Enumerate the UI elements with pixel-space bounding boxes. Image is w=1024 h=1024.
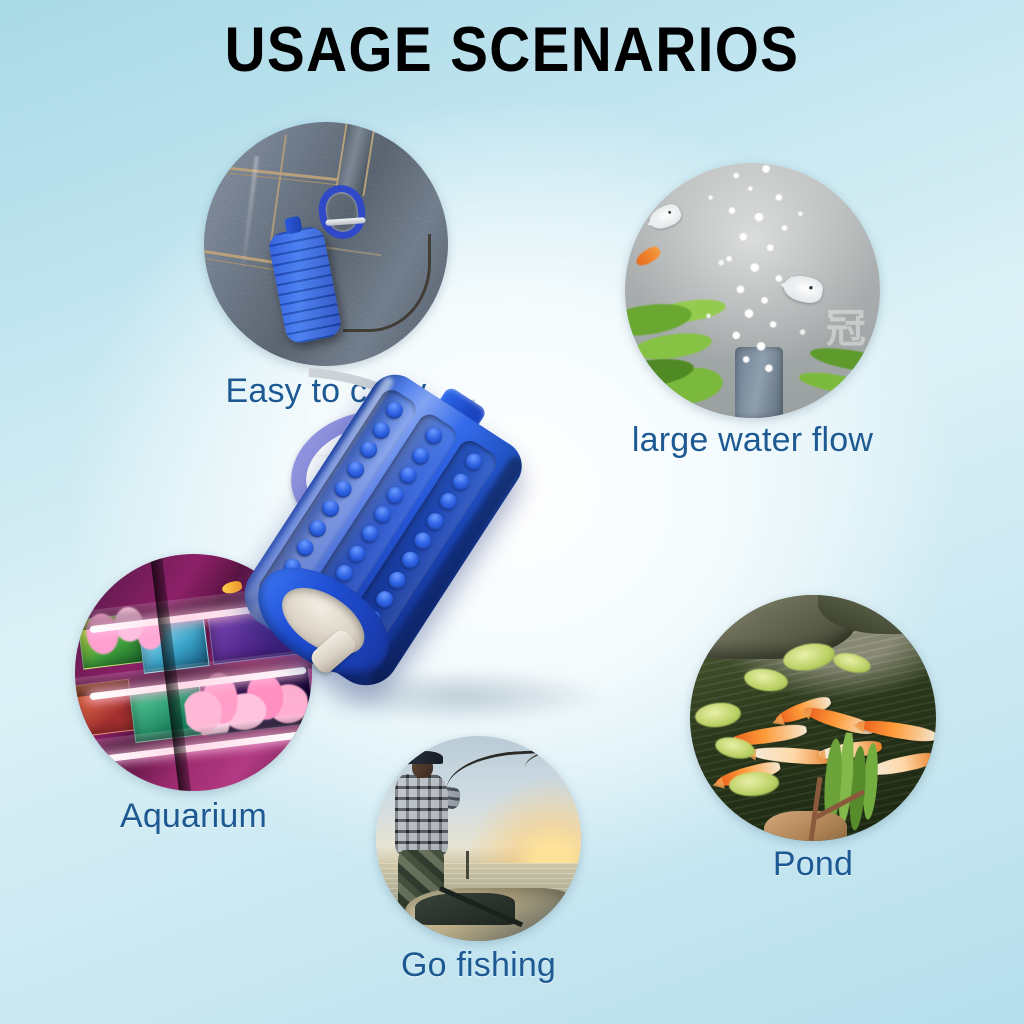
aquarium-bubbles-photo: 冠 — [625, 163, 880, 418]
scenario-image-large-water-flow: 冠 — [625, 163, 880, 418]
scenario-pond[interactable]: Pond — [690, 595, 936, 841]
boat-mast — [466, 851, 469, 880]
hero-product-air-pump — [300, 385, 720, 715]
scenario-label-go-fishing: Go fishing — [401, 946, 556, 985]
boat-hull — [405, 888, 577, 941]
scenario-label-pond: Pond — [773, 845, 853, 884]
infographic-canvas: USAGE SCENARIOS Easy to carry — [0, 0, 1024, 1024]
scenario-easy-to-carry[interactable]: Easy to carry — [204, 122, 448, 366]
scenario-label-aquarium: Aquarium — [120, 797, 267, 836]
pond-photo — [690, 595, 936, 841]
angler-plaid-shirt — [395, 774, 448, 855]
white-fish — [646, 201, 684, 233]
scenario-image-pond — [690, 595, 936, 841]
pond-stone — [764, 811, 848, 841]
angler-cap — [406, 751, 442, 764]
fishing-photo — [376, 736, 581, 941]
bubble-column — [702, 173, 809, 377]
jeans-photo — [204, 122, 448, 366]
scenario-image-go-fishing — [376, 736, 581, 941]
scenario-image-easy-to-carry — [204, 122, 448, 366]
orange-fish — [634, 244, 663, 269]
scenario-go-fishing[interactable]: Go fishing — [376, 736, 581, 941]
scenario-large-water-flow[interactable]: 冠 large water flow — [625, 163, 880, 418]
air-tube — [343, 234, 431, 332]
jeans-fold — [241, 156, 259, 268]
watermark: 冠 — [826, 296, 870, 354]
page-title: USAGE SCENARIOS — [51, 14, 973, 86]
